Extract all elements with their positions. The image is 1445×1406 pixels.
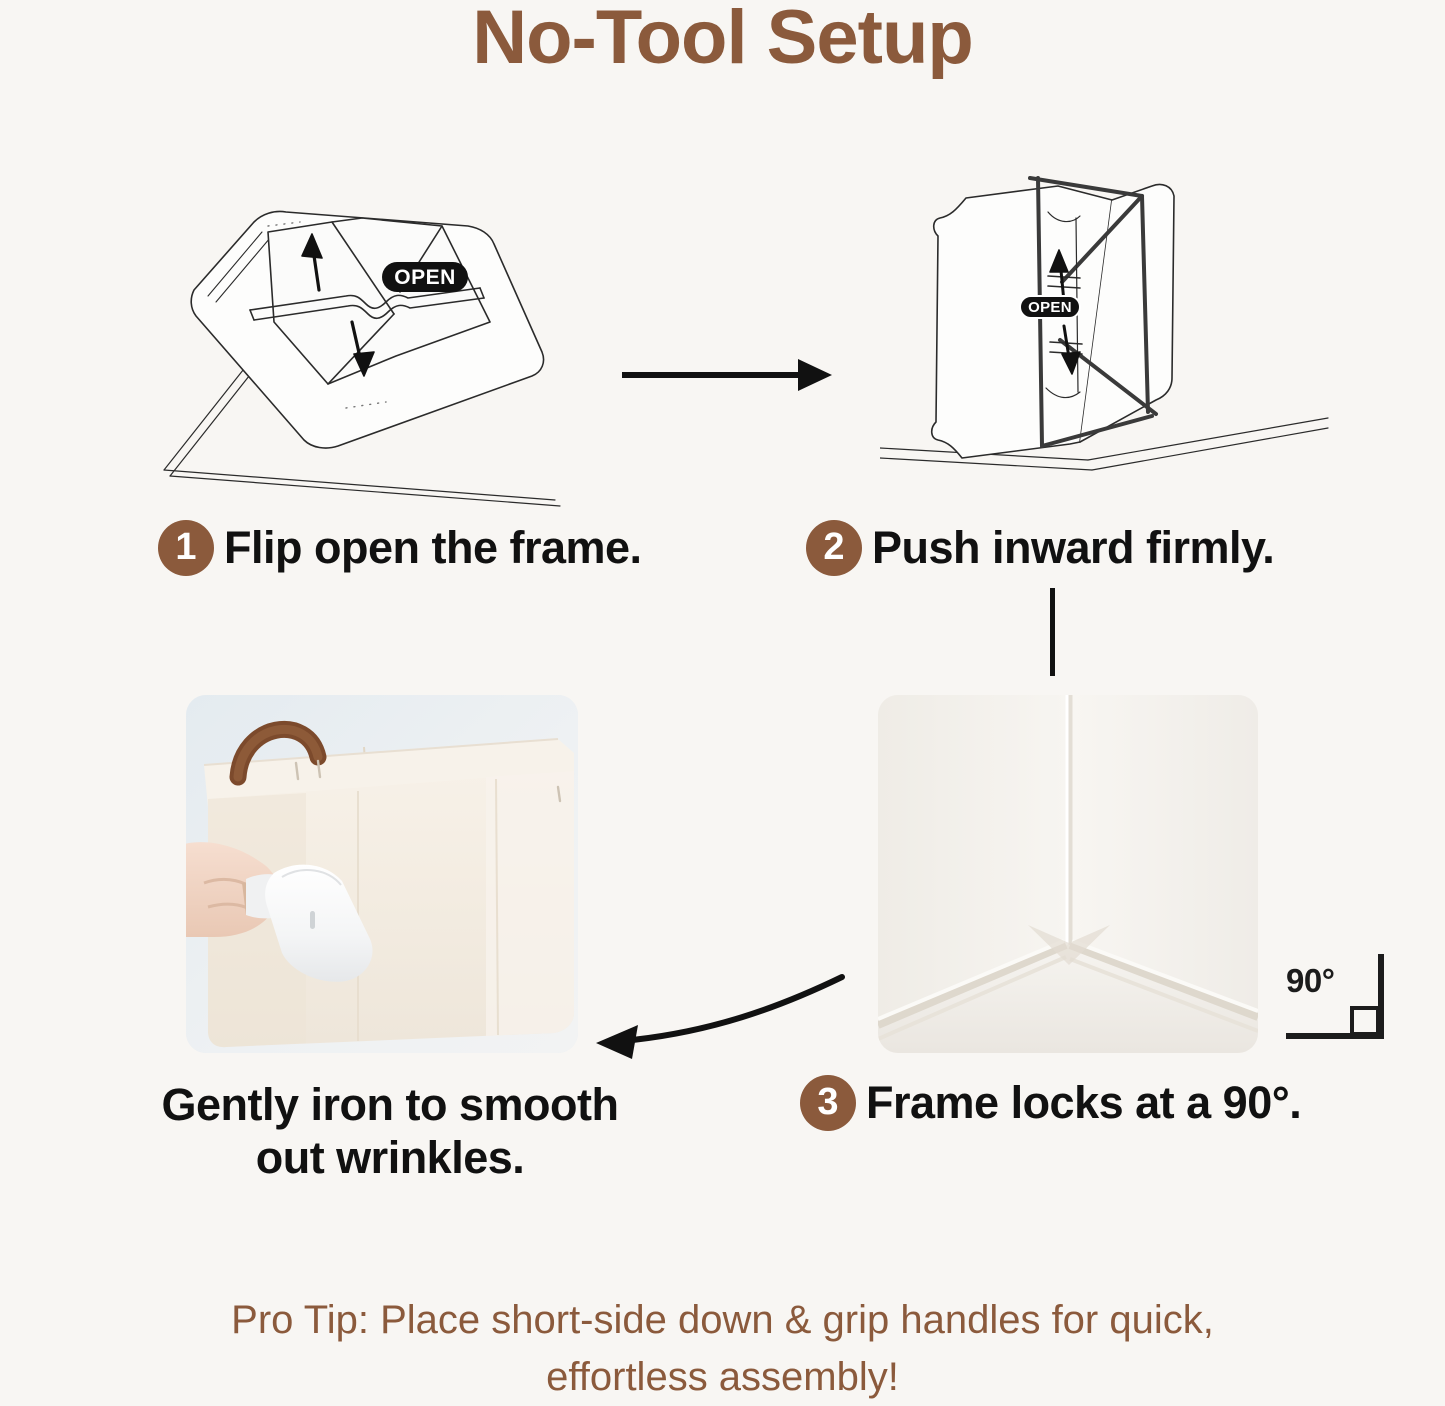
pro-tip-line-1: Pro Tip: Place short-side down & grip ha… bbox=[90, 1292, 1355, 1349]
step-1-caption: 1 Flip open the frame. bbox=[158, 520, 642, 576]
photo-bin-corner bbox=[878, 695, 1258, 1053]
svg-text:OPEN: OPEN bbox=[1028, 299, 1072, 316]
arrow-step3-to-iron-icon bbox=[580, 965, 850, 1070]
page-title: No-Tool Setup bbox=[0, 0, 1445, 80]
open-tag-icon: OPEN bbox=[1020, 296, 1080, 318]
step-1-label: Flip open the frame. bbox=[224, 522, 642, 574]
angle-90-label: 90° bbox=[1286, 962, 1334, 1000]
pro-tip-line-2: effortless assembly! bbox=[90, 1349, 1355, 1406]
step-1-illustration: OPEN bbox=[150, 170, 610, 510]
connector-step2-to-step3 bbox=[1050, 588, 1055, 676]
iron-caption-line-2: out wrinkles. bbox=[150, 1131, 630, 1184]
step-2-caption: 2 Push inward firmly. bbox=[806, 520, 1274, 576]
iron-caption-line-1: Gently iron to smooth bbox=[150, 1078, 630, 1131]
arrow-step1-to-step2-icon bbox=[620, 355, 835, 400]
step-2-label: Push inward firmly. bbox=[872, 522, 1274, 574]
angle-90-icon: 90° bbox=[1280, 948, 1390, 1053]
step-2-badge: 2 bbox=[806, 520, 862, 576]
svg-text:OPEN: OPEN bbox=[394, 266, 456, 289]
infographic-page: No-Tool Setup bbox=[0, 0, 1445, 1406]
photo-ironing-bin bbox=[186, 695, 578, 1053]
iron-caption: Gently iron to smooth out wrinkles. bbox=[150, 1078, 630, 1184]
step-2-illustration: OPEN bbox=[880, 160, 1330, 510]
step-3-badge: 3 bbox=[800, 1075, 856, 1131]
step-3-caption: 3 Frame locks at a 90°. bbox=[800, 1075, 1301, 1131]
step-1-badge: 1 bbox=[158, 520, 214, 576]
pro-tip: Pro Tip: Place short-side down & grip ha… bbox=[0, 1292, 1445, 1406]
open-tag-icon: OPEN bbox=[382, 262, 468, 292]
step-3-label: Frame locks at a 90°. bbox=[866, 1077, 1301, 1129]
